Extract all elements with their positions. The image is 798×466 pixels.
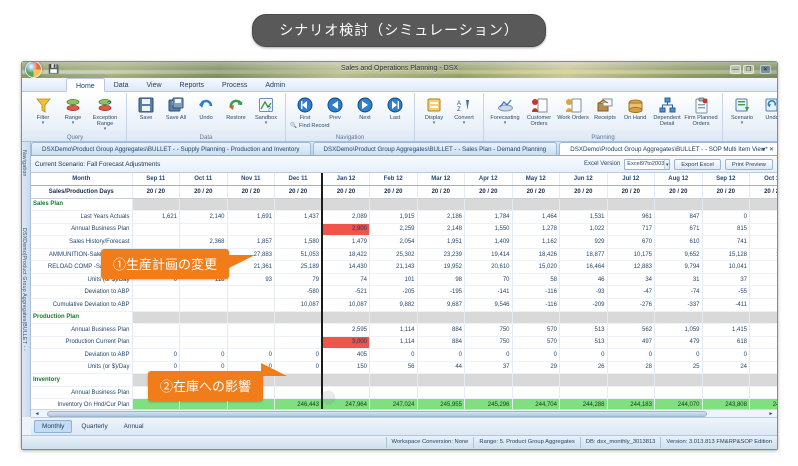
grid-cell[interactable]: 670: [607, 236, 655, 249]
grid-cell[interactable]: 37: [465, 361, 513, 374]
grid-cell[interactable]: 21,143: [370, 261, 418, 274]
grid-month-header[interactable]: Jun 12: [560, 173, 608, 186]
ribbon-button-prev[interactable]: Prev: [320, 94, 350, 121]
grid-cell[interactable]: 46: [560, 273, 608, 286]
grid-cell[interactable]: 1,479: [322, 236, 370, 249]
grid-cell[interactable]: 25,189: [275, 261, 323, 274]
grid-month-header[interactable]: May 12: [512, 173, 560, 186]
ribbon-group-query: Filter ▾ Range ▾ ? Exception Range ▾ Que…: [24, 93, 127, 141]
print-preview-button[interactable]: Print Preview: [725, 159, 773, 170]
grid-cell[interactable]: [132, 236, 180, 249]
grid-cell[interactable]: 1,580: [275, 236, 323, 249]
grid-cell: [750, 311, 778, 324]
grid-cell[interactable]: 20 / 20: [227, 186, 275, 199]
grid-month-header[interactable]: Apr 12: [465, 173, 513, 186]
menu-tab-home[interactable]: Home: [66, 78, 105, 92]
grid-cell[interactable]: [180, 336, 228, 349]
grid-cell[interactable]: 1,550: [465, 223, 513, 236]
ribbon-button-save[interactable]: Save: [131, 94, 161, 121]
grid-cell[interactable]: 750: [465, 336, 513, 349]
grid-cell[interactable]: 23,239: [417, 248, 465, 261]
maximize-button[interactable]: ❐: [743, 65, 754, 74]
ribbon-button-last[interactable]: Last: [380, 94, 410, 121]
grid-cell[interactable]: 9,652: [655, 248, 703, 261]
grid-cell[interactable]: 618: [702, 336, 750, 349]
grid-cell[interactable]: 1,621: [132, 211, 180, 224]
grid-cell[interactable]: 497: [607, 336, 655, 349]
grid-cell[interactable]: 2,148: [417, 223, 465, 236]
grid-cell[interactable]: 2,259: [370, 223, 418, 236]
grid-cell[interactable]: [132, 336, 180, 349]
grid-cell[interactable]: [132, 223, 180, 236]
grid-month-header[interactable]: Dec 11: [275, 173, 323, 186]
grid-cell: [370, 198, 418, 211]
grid-cell: [465, 374, 513, 387]
grid-cell[interactable]: [512, 386, 560, 399]
convert-icon: AZ: [455, 96, 473, 114]
grid-cell[interactable]: 18,422: [322, 248, 370, 261]
doc-tab-sop-multi-item-view[interactable]: DSXDemo\Product Group Aggregates\BULLET …: [559, 142, 778, 155]
grid-cell[interactable]: 884: [417, 324, 465, 337]
grid-cell[interactable]: -466: [750, 298, 778, 311]
grid-cell[interactable]: 14,430: [322, 261, 370, 274]
grid-month-header[interactable]: Aug 12: [655, 173, 703, 186]
period-tab-monthly[interactable]: Monthly: [34, 420, 72, 433]
grid-cell[interactable]: 0: [560, 349, 608, 362]
ribbon-button-save-all[interactable]: Save All: [161, 94, 191, 121]
grid-cell[interactable]: 10,087: [322, 298, 370, 311]
callout-text: ②在庫への影響: [160, 379, 251, 394]
grid-cell[interactable]: -205: [370, 286, 418, 299]
grid-cell[interactable]: -580: [275, 286, 323, 299]
grid-cell[interactable]: 0: [465, 349, 513, 362]
ribbon-button-next[interactable]: Next: [350, 94, 380, 121]
data-grid[interactable]: scenario MonthSep 11Oct 11Nov 11Dec 11Ja…: [31, 173, 777, 417]
grid-cell[interactable]: 10,087: [275, 298, 323, 311]
grid-cell[interactable]: 1,915: [370, 211, 418, 224]
grid-cell[interactable]: 20 / 20: [512, 186, 560, 199]
current-scenario-label: Current Scenario: Fall Forecast Adjustme…: [35, 161, 160, 168]
ribbon-button-undo[interactable]: Undo: [191, 94, 221, 121]
grid-cell[interactable]: 562: [607, 324, 655, 337]
grid-cell[interactable]: 20 / 20: [607, 186, 655, 199]
grid-cell[interactable]: 93: [227, 273, 275, 286]
grid-cell[interactable]: 0: [180, 349, 228, 362]
grid-cell[interactable]: 570: [512, 336, 560, 349]
grid-cell[interactable]: [132, 324, 180, 337]
grid-cell[interactable]: 1,278: [512, 223, 560, 236]
grid-cell[interactable]: -195: [417, 286, 465, 299]
office-orb-icon[interactable]: [25, 62, 42, 78]
grid-cell[interactable]: 0: [702, 349, 750, 362]
grid-cell[interactable]: 671: [655, 223, 703, 236]
grid-cell[interactable]: 20 / 20: [465, 186, 513, 199]
grid-cell[interactable]: 1,784: [465, 211, 513, 224]
period-tab-bar: Monthly Quarterly Annual: [31, 417, 777, 435]
grid-month-header[interactable]: Nov 11: [227, 173, 275, 186]
svg-text:?: ?: [107, 101, 111, 108]
grid-cell[interactable]: 101: [370, 273, 418, 286]
grid-cell[interactable]: 20 / 20: [750, 186, 778, 199]
grid-cell[interactable]: -276: [607, 298, 655, 311]
grid-cell[interactable]: [180, 286, 228, 299]
grid-cell[interactable]: 56: [370, 361, 418, 374]
grid-cell[interactable]: [465, 386, 513, 399]
status-bar: Workspace Conversion: None Range: 5. Pro…: [22, 435, 777, 449]
period-tab-quarterly[interactable]: Quarterly: [74, 421, 114, 432]
ribbon-button-forecasting[interactable]: Forecasting ▾: [488, 94, 522, 126]
grid-cell: [607, 374, 655, 387]
chevron-down-icon[interactable]: ▾: [72, 121, 75, 126]
grid-cell[interactable]: 1,059: [655, 324, 703, 337]
grid-month-header[interactable]: Oct 11: [180, 173, 228, 186]
ribbon-button-customer-orders[interactable]: Customer Orders: [522, 94, 556, 127]
grid-cell[interactable]: 24: [702, 361, 750, 374]
find-record-button[interactable]: 🔍 Find Record: [290, 121, 329, 129]
menu-tab-process[interactable]: Process: [213, 78, 256, 91]
grid-cell[interactable]: [227, 336, 275, 349]
excel-version-label: Excel Version: [584, 161, 620, 167]
grid-cell[interactable]: 1,114: [370, 336, 418, 349]
grid-cell[interactable]: 20 / 20: [655, 186, 703, 199]
grid-cell[interactable]: -411: [702, 298, 750, 311]
grid-cell[interactable]: [607, 386, 655, 399]
grid-cell[interactable]: [322, 386, 370, 399]
grid-cell[interactable]: 2,054: [370, 236, 418, 249]
grid-cell[interactable]: 20 / 20: [275, 186, 323, 199]
chevron-down-icon[interactable]: ▾: [504, 121, 507, 126]
grid-cell[interactable]: 2,900: [322, 223, 370, 236]
grid-cell[interactable]: 815: [702, 223, 750, 236]
grid-cell[interactable]: 1,059: [750, 336, 778, 349]
grid-cell[interactable]: 16,464: [560, 261, 608, 274]
grid-cell[interactable]: 26: [560, 361, 608, 374]
grid-cell[interactable]: 405: [322, 349, 370, 362]
ribbon-button-receipts[interactable]: Receipts: [590, 94, 620, 121]
grid-cell[interactable]: [180, 223, 228, 236]
grid-cell[interactable]: 8,986: [750, 261, 778, 274]
grid-cell[interactable]: -55: [702, 286, 750, 299]
grid-cell[interactable]: 929: [560, 236, 608, 249]
grid-cell[interactable]: 9,794: [655, 261, 703, 274]
grid-cell[interactable]: 20 / 20: [322, 186, 370, 199]
grid-cell[interactable]: 884: [417, 336, 465, 349]
grid-cell[interactable]: 19,414: [465, 248, 513, 261]
grid-cell[interactable]: [227, 286, 275, 299]
grid-cell[interactable]: 570: [512, 324, 560, 337]
grid-cell[interactable]: 2,089: [322, 211, 370, 224]
ribbon-button-exception-range[interactable]: ? Exception Range ▾: [88, 94, 122, 132]
chevron-down-icon[interactable]: ▾: [433, 121, 436, 126]
callout-production-plan-change: ①生産計画の変更: [101, 249, 229, 279]
grid-cell[interactable]: 606: [750, 223, 778, 236]
grid-cell[interactable]: [227, 223, 275, 236]
grid-cell[interactable]: 513: [560, 336, 608, 349]
chevron-down-icon[interactable]: ▾: [463, 121, 466, 126]
ribbon-button-restore[interactable]: Restore: [221, 94, 251, 121]
grid-cell[interactable]: 25: [655, 361, 703, 374]
grid-cell[interactable]: [275, 324, 323, 337]
ribbon-button-first[interactable]: First: [290, 94, 320, 121]
grid-cell[interactable]: 51,053: [275, 248, 323, 261]
grid-month-header[interactable]: Sep 12: [702, 173, 750, 186]
grid-cell[interactable]: 1,415: [702, 324, 750, 337]
grid-cell[interactable]: 961: [607, 211, 655, 224]
grid-cell[interactable]: 750: [465, 324, 513, 337]
tab-close-icon[interactable]: ✕: [769, 146, 774, 153]
period-tab-annual[interactable]: Annual: [117, 421, 151, 432]
grid-cell[interactable]: 15,128: [702, 248, 750, 261]
menu-tab-reports[interactable]: Reports: [171, 78, 214, 91]
grid-cell[interactable]: [750, 386, 778, 399]
grid-cell[interactable]: 618: [750, 324, 778, 337]
close-button[interactable]: ✕: [760, 65, 771, 74]
grid-cell[interactable]: [702, 386, 750, 399]
grid-cell[interactable]: 37: [702, 273, 750, 286]
grid-month-header[interactable]: Mar 12: [417, 173, 465, 186]
grid-cell[interactable]: 58: [512, 273, 560, 286]
grid-row: Deviation to ABP000040500000000000: [31, 349, 777, 362]
save-quick-icon[interactable]: 💾: [48, 64, 58, 74]
grid-cell[interactable]: 150: [322, 361, 370, 374]
ribbon-button-firm-planned-orders[interactable]: Firm Planned Orders: [684, 94, 718, 127]
grid-cell[interactable]: 20,610: [465, 261, 513, 274]
grid-cell[interactable]: 10,175: [607, 248, 655, 261]
grid-cell[interactable]: 15,020: [512, 261, 560, 274]
menu-tab-view[interactable]: View: [137, 78, 170, 91]
grid-cell[interactable]: 1,114: [370, 324, 418, 337]
navigation-side-strip[interactable]: Navigation DSXDemo|Product Group Aggrega…: [22, 142, 31, 417]
grid-cell[interactable]: 70: [465, 273, 513, 286]
grid-cell[interactable]: -47: [607, 286, 655, 299]
grid-cell[interactable]: 479: [655, 336, 703, 349]
menu-tab-admin[interactable]: Admin: [256, 78, 294, 91]
grid-cell[interactable]: 20 / 20: [560, 186, 608, 199]
binoculars-icon: 🔍: [290, 123, 297, 129]
grid-cell[interactable]: [275, 336, 323, 349]
grid-cell[interactable]: -57: [750, 286, 778, 299]
grid-cell[interactable]: 1,951: [417, 236, 465, 249]
grid-cell[interactable]: 1,857: [227, 236, 275, 249]
grid-cell[interactable]: 717: [607, 223, 655, 236]
grid-cell[interactable]: -116: [512, 286, 560, 299]
nav-last-icon: [386, 96, 404, 114]
nav-first-icon: [296, 96, 314, 114]
grid-cell[interactable]: 44: [417, 361, 465, 374]
grid-row: Annual Business Plan: [31, 386, 777, 399]
grid-cell[interactable]: 2,186: [417, 211, 465, 224]
grid-cell[interactable]: 74: [322, 273, 370, 286]
grid-cell[interactable]: 28: [607, 361, 655, 374]
grid-cell[interactable]: 12,883: [607, 261, 655, 274]
grid-cell[interactable]: -93: [560, 286, 608, 299]
grid-cell[interactable]: 31: [655, 273, 703, 286]
chevron-down-icon[interactable]: ▾: [265, 121, 268, 126]
grid-cell[interactable]: 0: [370, 349, 418, 362]
horizontal-scrollbar[interactable]: ◄ ►: [31, 409, 777, 417]
grid-cell[interactable]: -74: [655, 286, 703, 299]
grid-month-header[interactable]: Oct 12: [750, 173, 778, 186]
ribbon-button-scenario[interactable]: Scenario ▾: [727, 94, 757, 126]
grid-cell[interactable]: 0: [655, 349, 703, 362]
grid-cell[interactable]: 10,529: [750, 248, 778, 261]
ribbon-button-work-orders[interactable]: Work Orders: [556, 94, 590, 121]
grid-row: Annual Business Plan2,9002,2592,1481,550…: [31, 223, 777, 236]
grid-cell[interactable]: 610: [655, 236, 703, 249]
ribbon-group-label: Data: [127, 135, 285, 141]
find-record-label: Find Record: [299, 123, 329, 129]
grid-cell: [180, 198, 228, 211]
grid-cell[interactable]: 1,437: [275, 211, 323, 224]
tab-list-dropdown-icon[interactable]: ▾: [762, 146, 765, 153]
grid-month-header[interactable]: Jan 12: [322, 173, 370, 186]
grid-cell[interactable]: [227, 298, 275, 311]
ribbon-button-display[interactable]: Display ▾: [419, 94, 449, 126]
grid-cell: [132, 198, 180, 211]
grid-cell[interactable]: [275, 223, 323, 236]
menu-tab-data[interactable]: Data: [105, 78, 138, 91]
grid-cell[interactable]: -141: [465, 286, 513, 299]
excel-version-select[interactable]: Excel97to2003 ▾: [624, 159, 670, 170]
grid-cell[interactable]: -521: [322, 286, 370, 299]
grid-cell[interactable]: 0: [750, 349, 778, 362]
grid-cell[interactable]: 0: [227, 349, 275, 362]
grid-cell[interactable]: 0: [275, 349, 323, 362]
chevron-down-icon[interactable]: ▾: [42, 121, 45, 126]
grid-cell[interactable]: 98: [417, 273, 465, 286]
grid-cell[interactable]: 1,022: [560, 223, 608, 236]
grid-cell[interactable]: 20 / 20: [702, 186, 750, 199]
svg-text:Z: Z: [457, 107, 461, 112]
grid-section-title: Inventory: [31, 374, 132, 387]
filter-icon: [34, 96, 52, 114]
grid-cell[interactable]: 0: [512, 349, 560, 362]
grid-cell[interactable]: [560, 386, 608, 399]
grid-month-header[interactable]: Jul 12: [607, 173, 655, 186]
grid-cell[interactable]: 20 / 20: [180, 186, 228, 199]
ribbon-button-scenario-undo[interactable]: Undo: [757, 94, 778, 121]
grid-cell[interactable]: 1,531: [560, 211, 608, 224]
ribbon-group-label: Navigation: [286, 135, 414, 141]
grid-cell[interactable]: [132, 286, 180, 299]
ribbon-button-sandbox[interactable]: ? Sandbox ▾: [251, 94, 281, 126]
grid-month-header[interactable]: Sep 11: [132, 173, 180, 186]
grid-cell[interactable]: [180, 298, 228, 311]
grid-cell[interactable]: 9,546: [465, 298, 513, 311]
grid-cell[interactable]: [417, 386, 465, 399]
ribbon-button-on-hand[interactable]: On Hand: [620, 94, 650, 121]
grid-cell[interactable]: 0: [132, 349, 180, 362]
grid-cell: [322, 311, 370, 324]
grid-cell[interactable]: 1,409: [465, 236, 513, 249]
grid-cell[interactable]: 0: [702, 211, 750, 224]
ribbon-group-data: Save Save All Undo Restore: [127, 93, 286, 141]
grid-cell: [512, 374, 560, 387]
grid-cell[interactable]: 53: [750, 361, 778, 374]
grid-cell: [227, 311, 275, 324]
grid-cell[interactable]: 0: [607, 349, 655, 362]
ribbon-button-range[interactable]: Range ▾: [58, 94, 88, 126]
grid-cell: [370, 311, 418, 324]
grid-cell: [180, 311, 228, 324]
grid-row: Cumulative Deviation to ABP10,08710,0879…: [31, 298, 777, 311]
grid-cell[interactable]: 2,368: [750, 211, 778, 224]
ribbon-button-convert[interactable]: AZ Convert ▾: [449, 94, 479, 126]
grid-cell[interactable]: 741: [702, 236, 750, 249]
grid-cell[interactable]: [275, 386, 323, 399]
grid-cell[interactable]: 1,464: [512, 211, 560, 224]
grid-cell[interactable]: [370, 386, 418, 399]
grid-cell: [560, 374, 608, 387]
grid-cell[interactable]: 25,302: [370, 248, 418, 261]
grid-cell: [227, 198, 275, 211]
grid-cell[interactable]: 20 / 20: [417, 186, 465, 199]
chevron-down-icon[interactable]: ▾: [741, 121, 744, 126]
grid-cell[interactable]: 9,882: [370, 298, 418, 311]
grid-cell[interactable]: 1,162: [512, 236, 560, 249]
ribbon-button-filter[interactable]: Filter ▾: [28, 94, 58, 126]
export-excel-button[interactable]: Export Excel: [674, 159, 721, 170]
grid-corner-month-label: Month: [31, 173, 132, 186]
grid-row-label: Cumulative Deviation to ABP: [31, 298, 132, 311]
ribbon-group-label: Planning: [484, 135, 722, 141]
grid-cell[interactable]: [180, 324, 228, 337]
grid-cell: [275, 311, 323, 324]
grid-cell[interactable]: 551: [750, 236, 778, 249]
grid-cell[interactable]: 28: [750, 273, 778, 286]
grid-cell[interactable]: 2,368: [180, 236, 228, 249]
grid-cell[interactable]: 19,952: [417, 261, 465, 274]
grid-cell[interactable]: 79: [275, 273, 323, 286]
grid-cell[interactable]: 2,595: [322, 324, 370, 337]
grid-cell[interactable]: 29: [512, 361, 560, 374]
status-version: Version: 3.013.813 FM&RP&SOP Edition: [660, 437, 777, 448]
dependent-detail-icon: [658, 96, 676, 114]
grid-cell[interactable]: 1,691: [227, 211, 275, 224]
grid-cell[interactable]: 10,041: [702, 261, 750, 274]
tab-actions: ▾ ✕: [762, 146, 774, 153]
grid-cell[interactable]: -209: [560, 298, 608, 311]
doc-tab-sales-plan[interactable]: DSXDemo\Product Group Aggregates\BULLET …: [313, 142, 558, 155]
grid-cell[interactable]: 847: [655, 211, 703, 224]
grid-cell[interactable]: 513: [560, 324, 608, 337]
chevron-down-icon[interactable]: ▾: [664, 160, 669, 169]
grid-cell[interactable]: 20 / 20: [132, 186, 180, 199]
grid-cell[interactable]: -116: [512, 298, 560, 311]
ribbon-button-dependent-detail[interactable]: Dependent Detail: [650, 94, 684, 127]
grid-cell[interactable]: 18,877: [560, 248, 608, 261]
doc-tab-supply-planning[interactable]: DSXDemo\Product Group Aggregates\BULLET …: [31, 142, 311, 155]
grid-cell[interactable]: 18,426: [512, 248, 560, 261]
scenario-bar-actions: Excel Version Excel97to2003 ▾ Export Exc…: [584, 159, 773, 170]
ribbon-button-label: Next: [359, 115, 371, 121]
grid-cell[interactable]: 20 / 20: [370, 186, 418, 199]
grid-cell[interactable]: 0: [417, 349, 465, 362]
grid-cell[interactable]: 9,687: [417, 298, 465, 311]
grid-cell[interactable]: 34: [607, 273, 655, 286]
grid-cell[interactable]: [655, 386, 703, 399]
grid-cell[interactable]: [132, 298, 180, 311]
grid-month-header[interactable]: Feb 12: [370, 173, 418, 186]
grid-cell[interactable]: -337: [655, 298, 703, 311]
chevron-down-icon[interactable]: ▾: [104, 127, 107, 132]
grid-cell[interactable]: 3,000: [322, 336, 370, 349]
nav-prev-icon: [326, 96, 344, 114]
minimize-button[interactable]: —: [730, 65, 741, 74]
grid-cell[interactable]: [227, 324, 275, 337]
ribbon-button-label: Firm Planned Orders: [684, 115, 718, 127]
grid-cell[interactable]: 2,140: [180, 211, 228, 224]
